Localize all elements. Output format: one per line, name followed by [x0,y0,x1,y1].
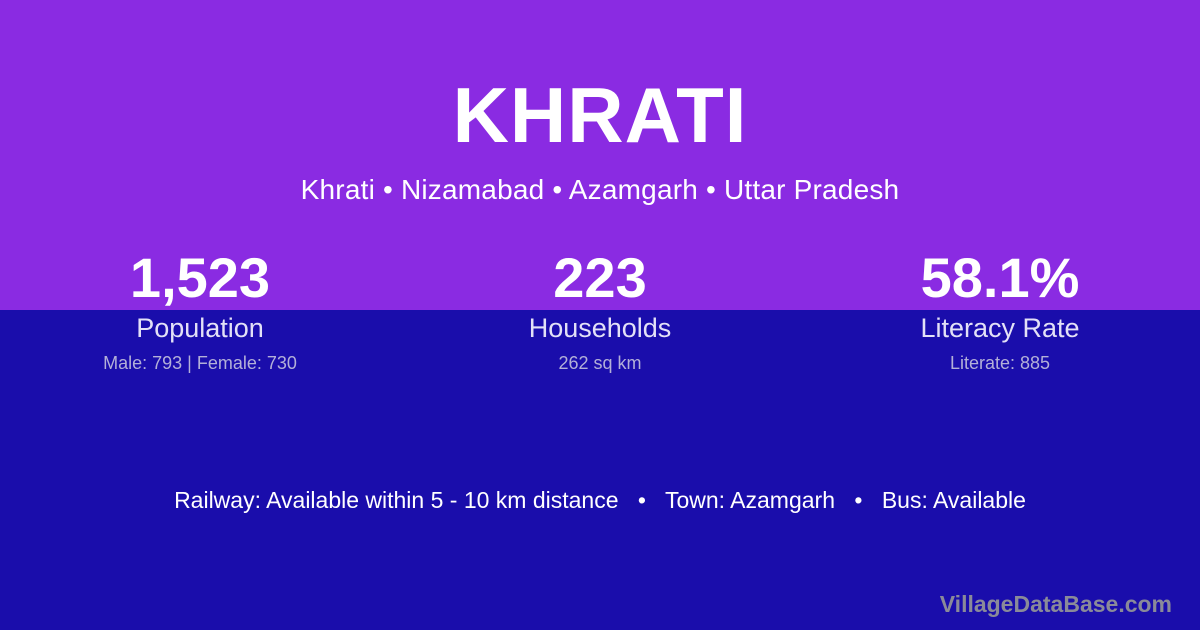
stat-value: 223 [400,248,800,308]
page-title: KHRATI [0,0,1200,154]
stat-literacy-rate: 58.1% Literacy Rate Literate: 885 [800,248,1200,374]
stat-label: Population [0,312,400,344]
stat-detail: 262 sq km [400,352,800,374]
breadcrumb: Khrati • Nizamabad • Azamgarh • Uttar Pr… [0,154,1200,204]
stat-population: 1,523 Population Male: 793 | Female: 730 [0,248,400,374]
site-branding: VillageDataBase.com [940,590,1172,618]
stat-households: 223 Households 262 sq km [400,248,800,374]
card-header: KHRATI Khrati • Nizamabad • Azamgarh • U… [0,0,1200,204]
stat-label: Literacy Rate [800,312,1200,344]
stat-value: 58.1% [800,248,1200,308]
stat-value: 1,523 [0,248,400,308]
stat-label: Households [400,312,800,344]
village-info-card: KHRATI Khrati • Nizamabad • Azamgarh • U… [0,0,1200,630]
amenities-summary: Railway: Available within 5 - 10 km dist… [0,486,1200,514]
bullet-separator-icon: • [841,486,875,514]
amenity-railway: Railway: Available within 5 - 10 km dist… [174,487,618,513]
bullet-separator-icon: • [625,486,659,514]
stat-detail: Male: 793 | Female: 730 [0,352,400,374]
stat-detail: Literate: 885 [800,352,1200,374]
statistics-row: 1,523 Population Male: 793 | Female: 730… [0,248,1200,374]
amenity-town: Town: Azamgarh [665,487,835,513]
amenity-bus: Bus: Available [882,487,1026,513]
